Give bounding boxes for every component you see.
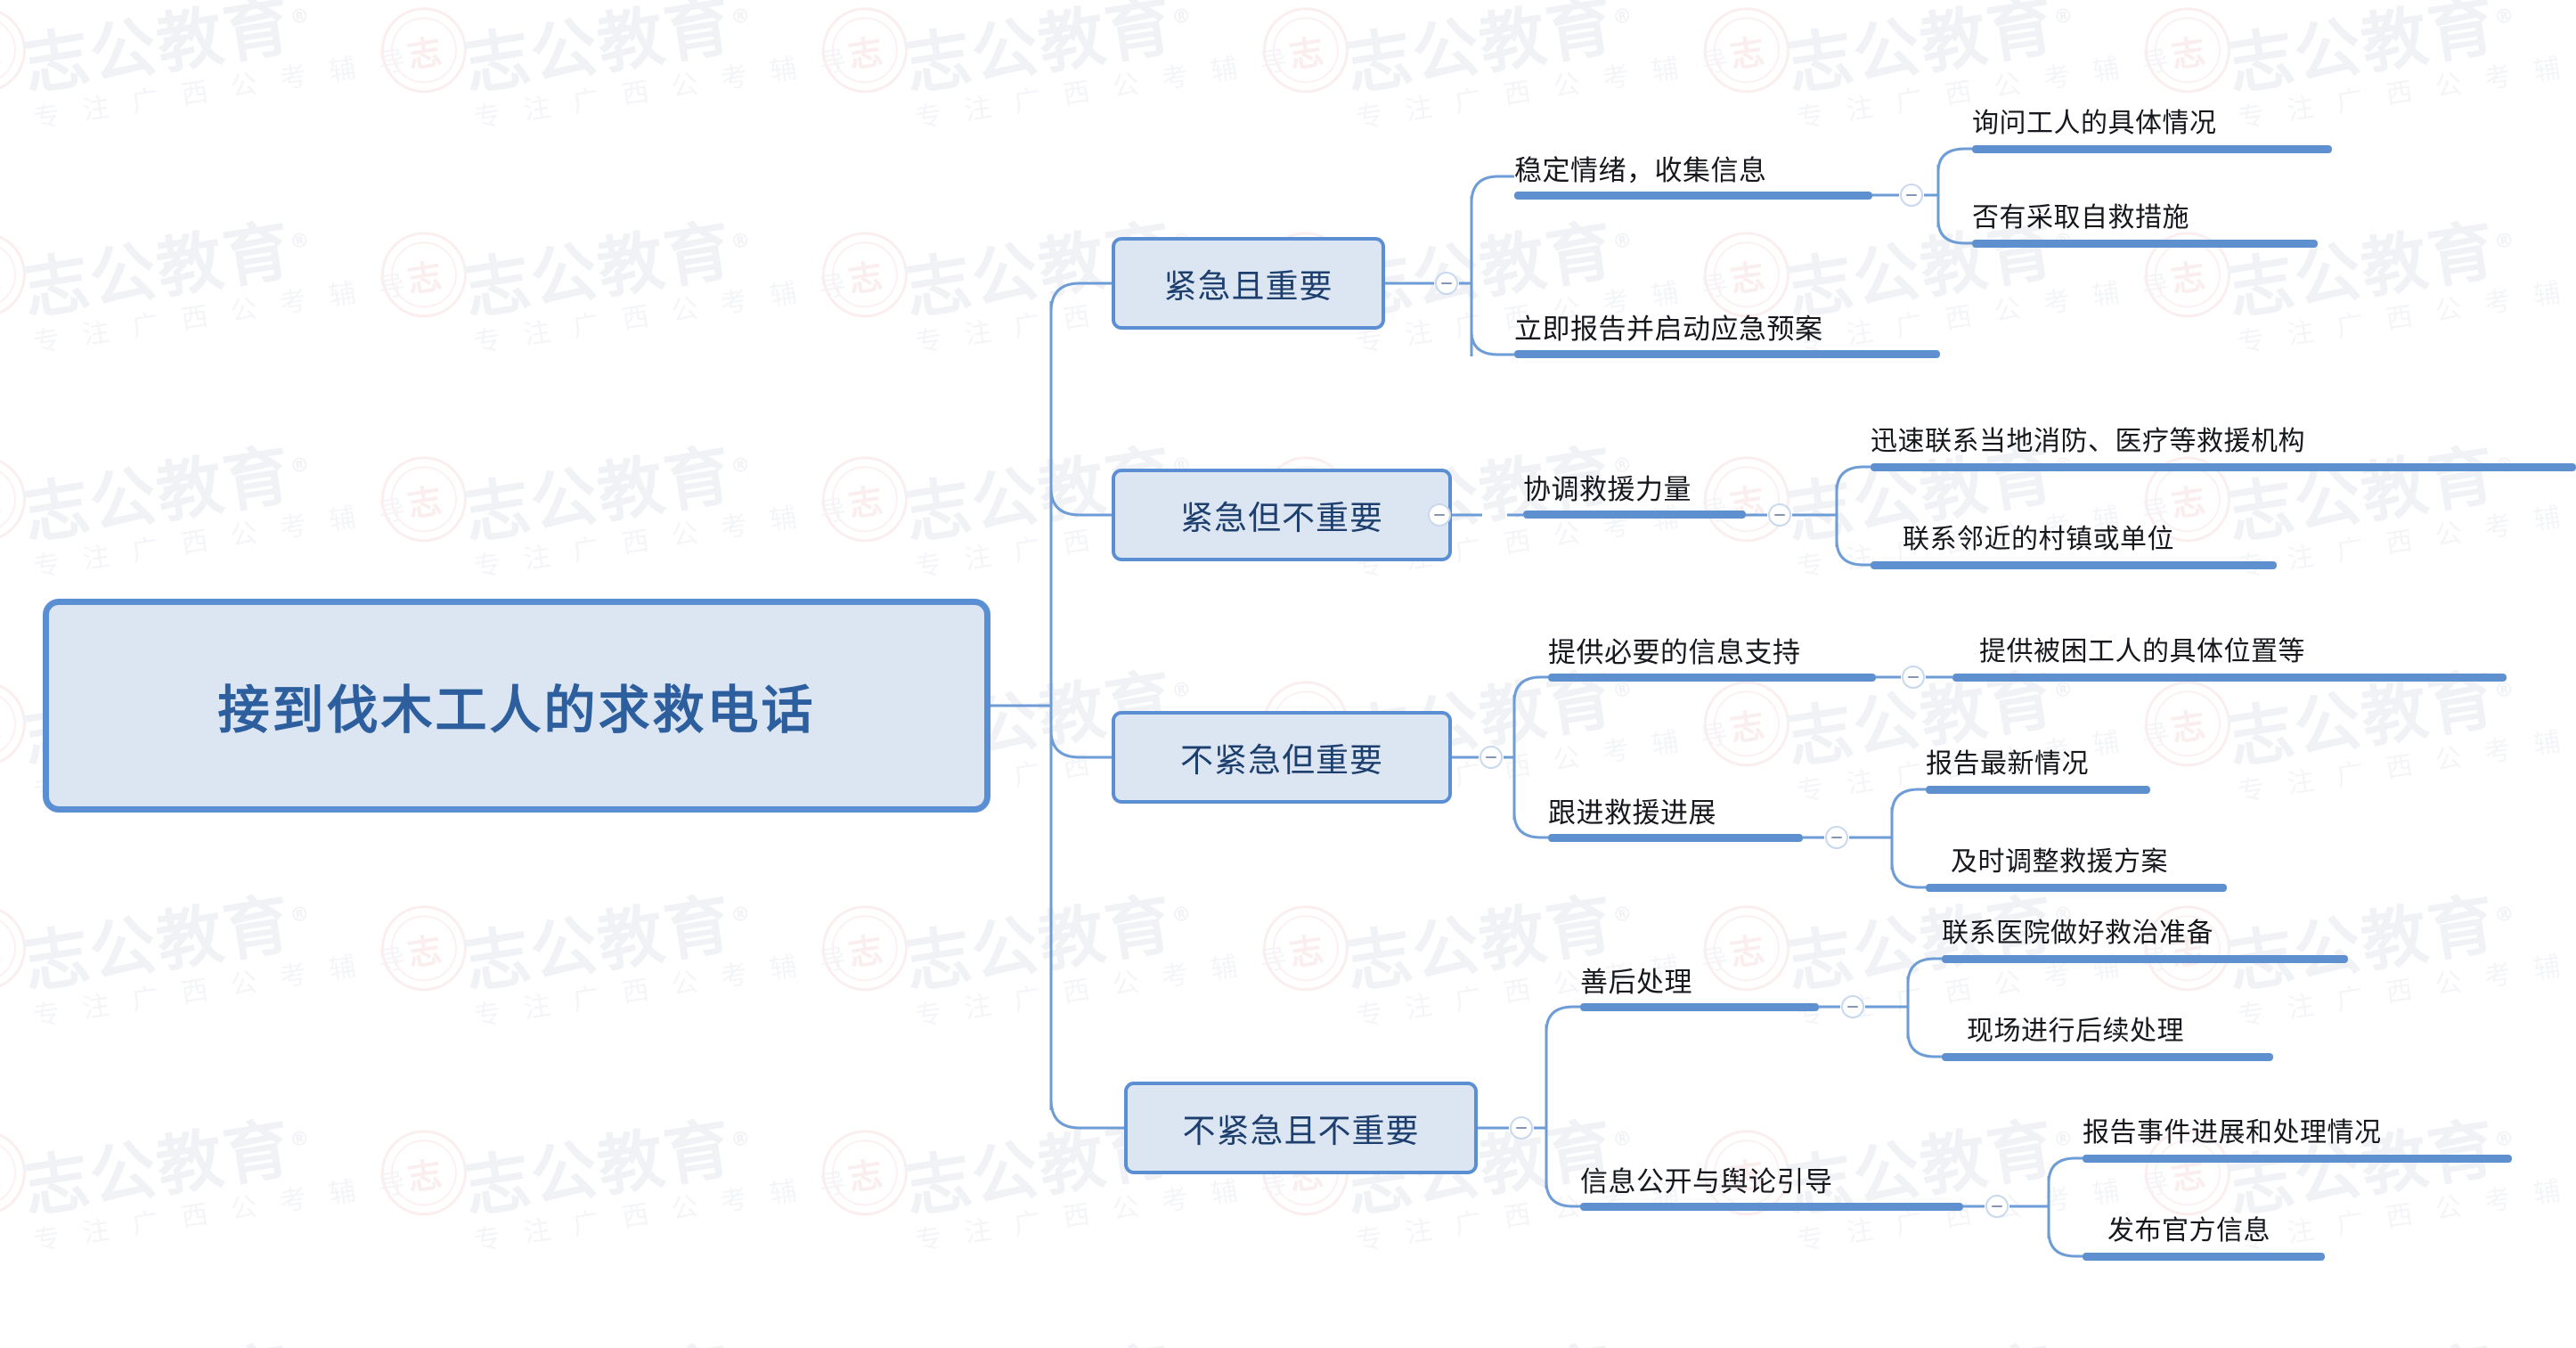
minus-icon — [1908, 676, 1919, 678]
leaf-ask-worker-situation[interactable]: 询问工人的具体情况 — [1972, 89, 2332, 144]
leaf-label: 及时调整救援方案 — [1951, 839, 2168, 878]
branch-label: 不紧急且不重要 — [1183, 1104, 1420, 1152]
collapse-toggle-follow-rescue-progress[interactable] — [1825, 826, 1848, 849]
subnode-provide-info-support[interactable]: 提供必要的信息支持 — [1548, 616, 1876, 674]
leaf-label: 报告事件进展和处理情况 — [2083, 1110, 2382, 1149]
subnode-stabilize-emotion[interactable]: 稳定情绪，收集信息 — [1514, 134, 1872, 192]
leaf-contact-nearby-villages[interactable]: 联系邻近的村镇或单位 — [1903, 505, 2277, 560]
subnode-label: 跟进救援进展 — [1548, 790, 1716, 830]
collapse-toggle-aftermath-handling[interactable] — [1841, 995, 1864, 1018]
leaf-label: 否有采取自救措施 — [1972, 195, 2189, 234]
subnode-label: 善后处理 — [1580, 960, 1692, 1000]
subnode-follow-rescue-progress[interactable]: 跟进救援进展 — [1548, 776, 1803, 835]
leaf-report-event-progress[interactable]: 报告事件进展和处理情况 — [2083, 1099, 2512, 1154]
collapse-toggle-urgent-important[interactable] — [1435, 272, 1458, 295]
subnode-report-and-activate-plan[interactable]: 立即报告并启动应急预案 — [1514, 292, 1940, 351]
minus-icon — [1516, 1127, 1527, 1129]
leaf-adjust-rescue-plan[interactable]: 及时调整救援方案 — [1951, 828, 2227, 883]
minus-icon — [1992, 1205, 2002, 1207]
branch-label: 紧急但不重要 — [1180, 491, 1383, 539]
leaf-label: 联系邻近的村镇或单位 — [1903, 517, 2174, 556]
leaf-label: 询问工人的具体情况 — [1972, 101, 2217, 140]
collapse-toggle-stabilize-emotion[interactable] — [1900, 184, 1923, 207]
minus-icon — [1434, 514, 1445, 516]
leaf-label: 联系医院做好救治准备 — [1942, 911, 2213, 950]
collapse-toggle-not-urgent-important[interactable] — [1480, 746, 1503, 769]
collapse-toggle-info-disclosure[interactable] — [1985, 1195, 2009, 1218]
collapse-toggle-coordinate-rescue-forces[interactable] — [1768, 503, 1791, 527]
minus-icon — [1906, 194, 1917, 196]
leaf-label: 迅速联系当地消防、医疗等救援机构 — [1871, 419, 2305, 458]
subnode-label: 立即报告并启动应急预案 — [1514, 306, 1823, 347]
subnode-info-disclosure-public-opinion[interactable]: 信息公开与舆论引导 — [1580, 1145, 1963, 1204]
leaf-publish-official-info[interactable]: 发布官方信息 — [2107, 1197, 2325, 1252]
leaf-report-latest-situation[interactable]: 报告最新情况 — [1926, 730, 2150, 785]
leaf-provide-trapped-worker-location[interactable]: 提供被困工人的具体位置等 — [1979, 617, 2507, 673]
leaf-label: 提供被困工人的具体位置等 — [1979, 629, 2305, 668]
leaf-self-rescue-measures[interactable]: 否有采取自救措施 — [1972, 184, 2318, 239]
subnode-label: 稳定情绪，收集信息 — [1514, 148, 1767, 188]
mindmap-root-node[interactable]: 接到伐木工人的求救电话 — [43, 599, 990, 813]
subnode-coordinate-rescue-forces[interactable]: 协调救援力量 — [1523, 453, 1746, 511]
branch-label: 不紧急但重要 — [1180, 733, 1383, 781]
collapse-toggle-provide-info-support[interactable] — [1902, 666, 1925, 689]
minus-icon — [1774, 514, 1785, 516]
minus-icon — [1831, 837, 1842, 838]
branch-node-urgent-important[interactable]: 紧急且重要 — [1112, 237, 1385, 330]
leaf-contact-hospital-treatment[interactable]: 联系医院做好救治准备 — [1942, 899, 2348, 954]
branch-node-urgent-not-important[interactable]: 紧急但不重要 — [1112, 469, 1452, 561]
leaf-label: 现场进行后续处理 — [1967, 1009, 2184, 1048]
leaf-label: 报告最新情况 — [1926, 741, 2089, 780]
minus-icon — [1486, 756, 1496, 758]
leaf-contact-local-fire-medical[interactable]: 迅速联系当地消防、医疗等救援机构 — [1871, 407, 2576, 462]
minus-icon — [1441, 282, 1452, 284]
collapse-toggle-not-urgent-not-important[interactable] — [1510, 1116, 1533, 1140]
mindmap-canvas: 接到伐木工人的求救电话 紧急且重要 紧急但不重要 不紧急但重要 不紧急且不重要 … — [0, 0, 2576, 1348]
subnode-label: 提供必要的信息支持 — [1548, 630, 1801, 670]
subnode-label: 信息公开与舆论引导 — [1580, 1159, 1833, 1199]
leaf-onsite-followup-handling[interactable]: 现场进行后续处理 — [1967, 997, 2273, 1052]
branch-node-not-urgent-important[interactable]: 不紧急但重要 — [1112, 711, 1452, 804]
branch-label: 紧急且重要 — [1164, 259, 1333, 307]
leaf-label: 发布官方信息 — [2107, 1208, 2270, 1247]
subnode-aftermath-handling[interactable]: 善后处理 — [1580, 945, 1819, 1004]
subnode-label: 协调救援力量 — [1523, 467, 1692, 507]
minus-icon — [1847, 1006, 1858, 1008]
branch-node-not-urgent-not-important[interactable]: 不紧急且不重要 — [1124, 1082, 1478, 1174]
collapse-toggle-urgent-not-important[interactable] — [1428, 503, 1451, 527]
root-label: 接到伐木工人的求救电话 — [217, 668, 815, 743]
